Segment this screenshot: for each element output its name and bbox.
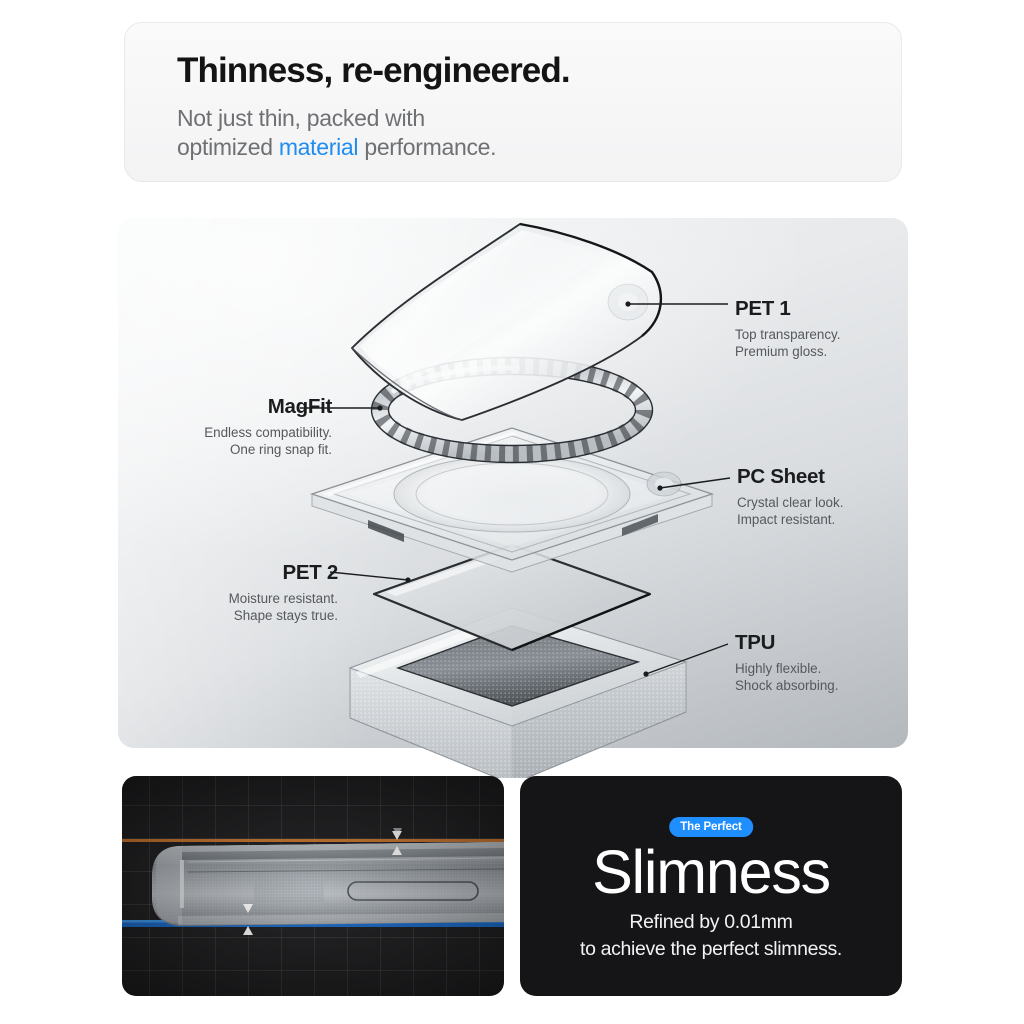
callout-magfit: MagFit Endless compatibility. One ring s… [170,396,332,459]
leader-dot-tpu [643,671,648,676]
callout-pet1-title: PET 1 [735,298,840,321]
callout-magfit-desc-line1: Endless compatibility. [170,424,332,442]
leader-dot-pet2 [405,577,410,582]
slimness-subtitle-line2: to achieve the perfect slimness. [580,936,842,963]
leader-line-pet2 [330,572,408,580]
callout-magfit-desc: Endless compatibility. One ring snap fit… [170,424,332,460]
leader-dot-magfit [377,405,382,410]
callout-pet1-desc-line1: Top transparency. [735,326,840,344]
callout-tpu: TPU Highly flexible. Shock absorbing. [735,632,838,695]
slimness-title: Slimness [592,834,830,910]
callout-tpu-title: TPU [735,632,838,655]
leader-dot-pcsheet [657,485,662,490]
callout-pc-sheet-desc: Crystal clear look. Impact resistant. [737,494,843,530]
callout-pet2-desc-line2: Shape stays true. [168,607,338,625]
leader-dot-pet1 [625,301,630,306]
callout-tpu-desc-line1: Highly flexible. [735,660,838,678]
callout-pc-sheet: PC Sheet Crystal clear look. Impact resi… [737,466,843,529]
callout-pc-sheet-desc-line1: Crystal clear look. [737,494,843,512]
slimness-subtitle-line1: Refined by 0.01mm [580,909,842,936]
cross-section-panel [122,776,504,996]
callout-magfit-desc-line2: One ring snap fit. [170,441,332,459]
slimness-card: The Perfect Slimness Refined by 0.01mm t… [520,776,902,996]
callout-pet2-title: PET 2 [168,562,338,585]
callout-pc-sheet-desc-line2: Impact resistant. [737,511,843,529]
callout-tpu-desc: Highly flexible. Shock absorbing. [735,660,838,696]
callout-tpu-desc-line2: Shock absorbing. [735,677,838,695]
callout-pet2-desc: Moisture resistant. Shape stays true. [168,590,338,626]
callout-magfit-title: MagFit [170,396,332,419]
callout-pet1-desc: Top transparency. Premium gloss. [735,326,840,362]
slimness-subtitle: Refined by 0.01mm to achieve the perfect… [580,909,842,962]
callout-pc-sheet-title: PC Sheet [737,466,843,489]
product-feature-page: Thinness, re-engineered. Not just thin, … [0,0,1024,1024]
callout-pet1: PET 1 Top transparency. Premium gloss. [735,298,840,361]
callout-pet2: PET 2 Moisture resistant. Shape stays tr… [168,562,338,625]
callout-pet1-desc-line2: Premium gloss. [735,343,840,361]
callout-pet2-desc-line1: Moisture resistant. [168,590,338,608]
cross-section-vignette [122,776,504,996]
